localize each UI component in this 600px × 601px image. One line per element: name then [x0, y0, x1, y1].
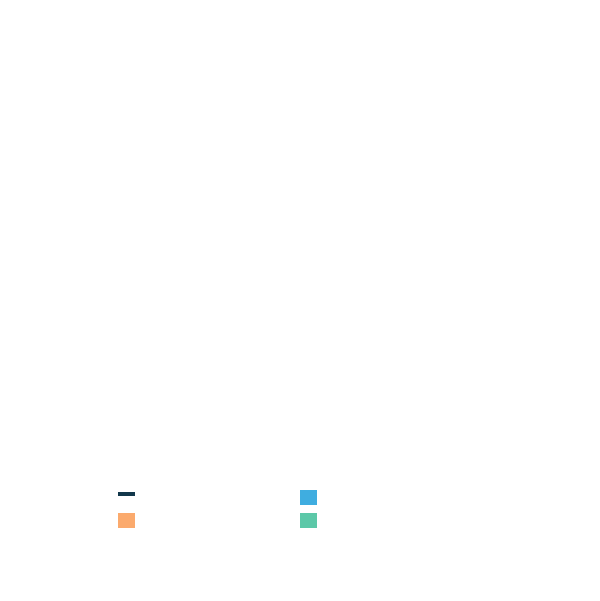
return-on-equity-line-marker-icon: [118, 492, 135, 496]
legend-item-return-on-equity: [118, 492, 141, 496]
plot-canvas: [0, 0, 600, 601]
tax-and-other-swatch-icon: [300, 513, 317, 528]
legend-item-underwriting-result: [118, 513, 141, 528]
legend-item-tax-and-other: [300, 513, 323, 528]
underwriting-result-swatch-icon: [118, 513, 135, 528]
legend-item-investment-income: [300, 490, 323, 505]
chart-root: [0, 0, 600, 601]
investment-income-swatch-icon: [300, 490, 317, 505]
